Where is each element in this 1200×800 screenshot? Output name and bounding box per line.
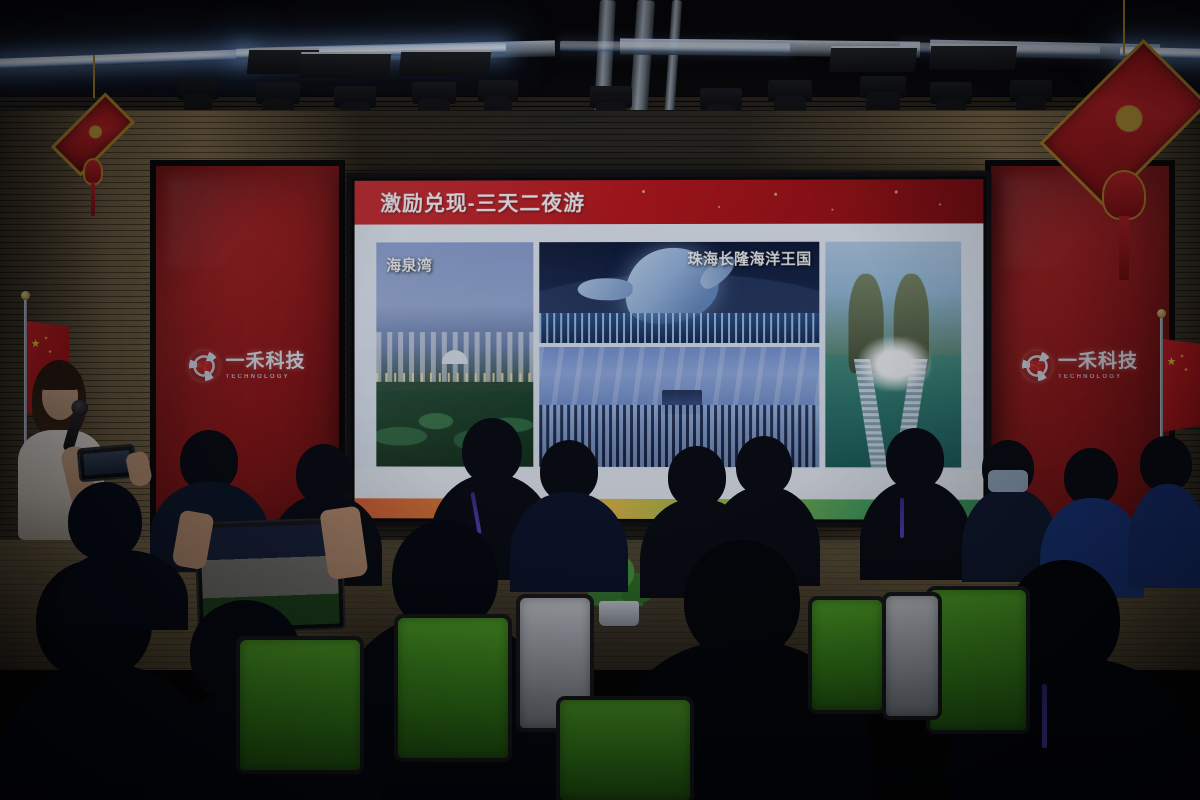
company-logo: 一禾科技 TECHNOLOGY bbox=[991, 351, 1169, 381]
presenter-fringe bbox=[38, 368, 82, 390]
logo-mark-icon bbox=[189, 351, 219, 381]
lanyard bbox=[1042, 684, 1047, 748]
waterfront-lights bbox=[539, 313, 820, 343]
logo-english-name: TECHNOLOGY bbox=[225, 374, 305, 380]
lanyard bbox=[900, 498, 904, 538]
ocean-kingdom-whale-scene: 珠海长隆海洋王国 bbox=[539, 242, 820, 344]
slide-title: 激励兑现-三天二夜游 bbox=[380, 187, 585, 217]
chair-green bbox=[398, 618, 508, 758]
photo-caption-ocean-kingdom: 珠海长隆海洋王国 bbox=[687, 248, 811, 269]
barn-door-fixture bbox=[399, 50, 492, 76]
slide-header-bar: 激励兑现-三天二夜游 bbox=[355, 179, 984, 224]
panel-sheen bbox=[167, 177, 295, 268]
logo-chinese-name: 一禾科技 bbox=[225, 352, 305, 371]
knot-loop bbox=[83, 158, 103, 184]
barn-door-fixture bbox=[299, 52, 392, 78]
chair-green bbox=[930, 590, 1026, 730]
photo-caption-resort: 海泉湾 bbox=[386, 254, 432, 275]
chair-green bbox=[812, 600, 882, 710]
face-mask bbox=[988, 470, 1028, 492]
knot-tassel bbox=[91, 182, 95, 216]
chair-green bbox=[560, 700, 690, 800]
flag-cloth bbox=[1163, 339, 1200, 432]
photo-ocean-kingdom: 珠海长隆海洋王国 bbox=[539, 242, 820, 468]
chair-green bbox=[240, 640, 360, 770]
chair-white bbox=[886, 596, 938, 716]
audience-member-masked bbox=[860, 428, 972, 578]
ride-splash bbox=[858, 336, 931, 390]
resort-lights bbox=[376, 372, 533, 381]
logo-english-name: TECHNOLOGY bbox=[1058, 374, 1138, 380]
chinese-knot-right bbox=[1078, 50, 1170, 280]
knot-tassel bbox=[1119, 216, 1128, 280]
flag-finial bbox=[21, 291, 30, 300]
logo-chinese-name: 一禾科技 bbox=[1058, 352, 1138, 371]
logo-mark-icon bbox=[1022, 351, 1052, 381]
chinese-knot-left bbox=[72, 96, 114, 216]
knot-cord bbox=[1123, 0, 1125, 55]
phone-screen bbox=[83, 450, 131, 476]
knot-cord bbox=[93, 55, 95, 98]
company-logo: 一禾科技 TECHNOLOGY bbox=[156, 351, 339, 381]
conference-hall-photo: 一禾科技 TECHNOLOGY 一禾科技 TECHNOLOGY 激励兑现 bbox=[0, 0, 1200, 800]
flag-finial bbox=[1157, 309, 1166, 318]
barn-door-fixture bbox=[929, 44, 1018, 70]
knot-loop bbox=[1102, 170, 1146, 221]
barn-door-fixture bbox=[829, 46, 918, 72]
